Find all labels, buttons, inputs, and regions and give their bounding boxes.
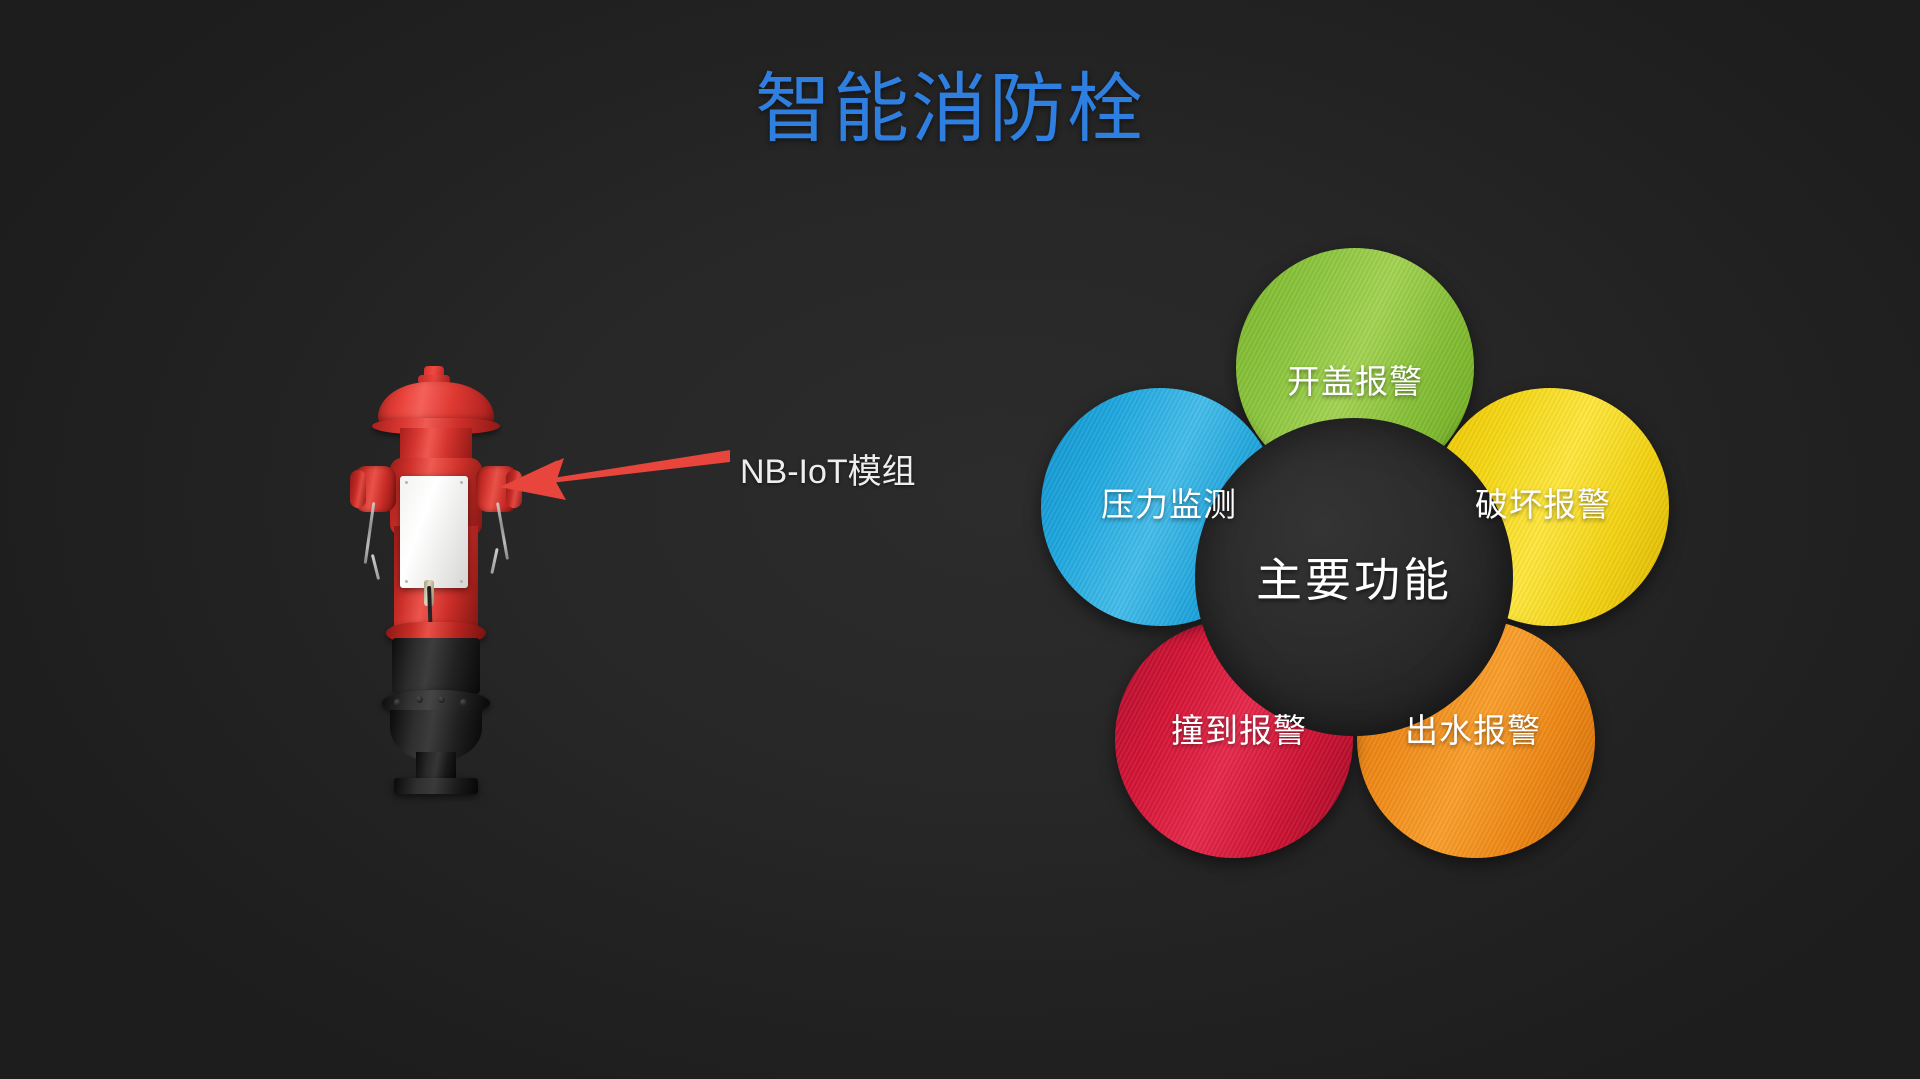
nb-iot-module-label: NB-IoT模组: [740, 450, 916, 494]
function-wheel-diagram: 开盖报警 破坏报警 出水报警 撞到报警 压力监测 主要功能: [1035, 248, 1675, 888]
petal-label-water-flow-alarm: 出水报警: [1405, 704, 1541, 752]
petal-label-impact-alarm: 撞到报警: [1171, 704, 1307, 752]
hydrant-chain-right-lower: [490, 548, 498, 574]
page-title: 智能消防栓: [755, 66, 1145, 154]
callout-arrow-icon: [480, 432, 730, 522]
function-wheel-hub: 主要功能: [1195, 418, 1513, 736]
petal-label-open-cover-alarm: 开盖报警: [1287, 355, 1423, 403]
hydrant-chain-left-lower: [371, 554, 380, 580]
hydrant-cap-left: [350, 470, 366, 508]
nb-iot-module-box: [400, 476, 468, 588]
slide-canvas: 智能消防栓: [0, 0, 1920, 1079]
function-wheel-hub-label: 主要功能: [1256, 544, 1452, 610]
hydrant-black-body: [392, 638, 480, 694]
hydrant-base-plate: [394, 778, 478, 794]
petal-label-damage-alarm: 破坏报警: [1475, 478, 1611, 526]
petal-label-pressure-monitor: 压力监测: [1101, 478, 1237, 526]
